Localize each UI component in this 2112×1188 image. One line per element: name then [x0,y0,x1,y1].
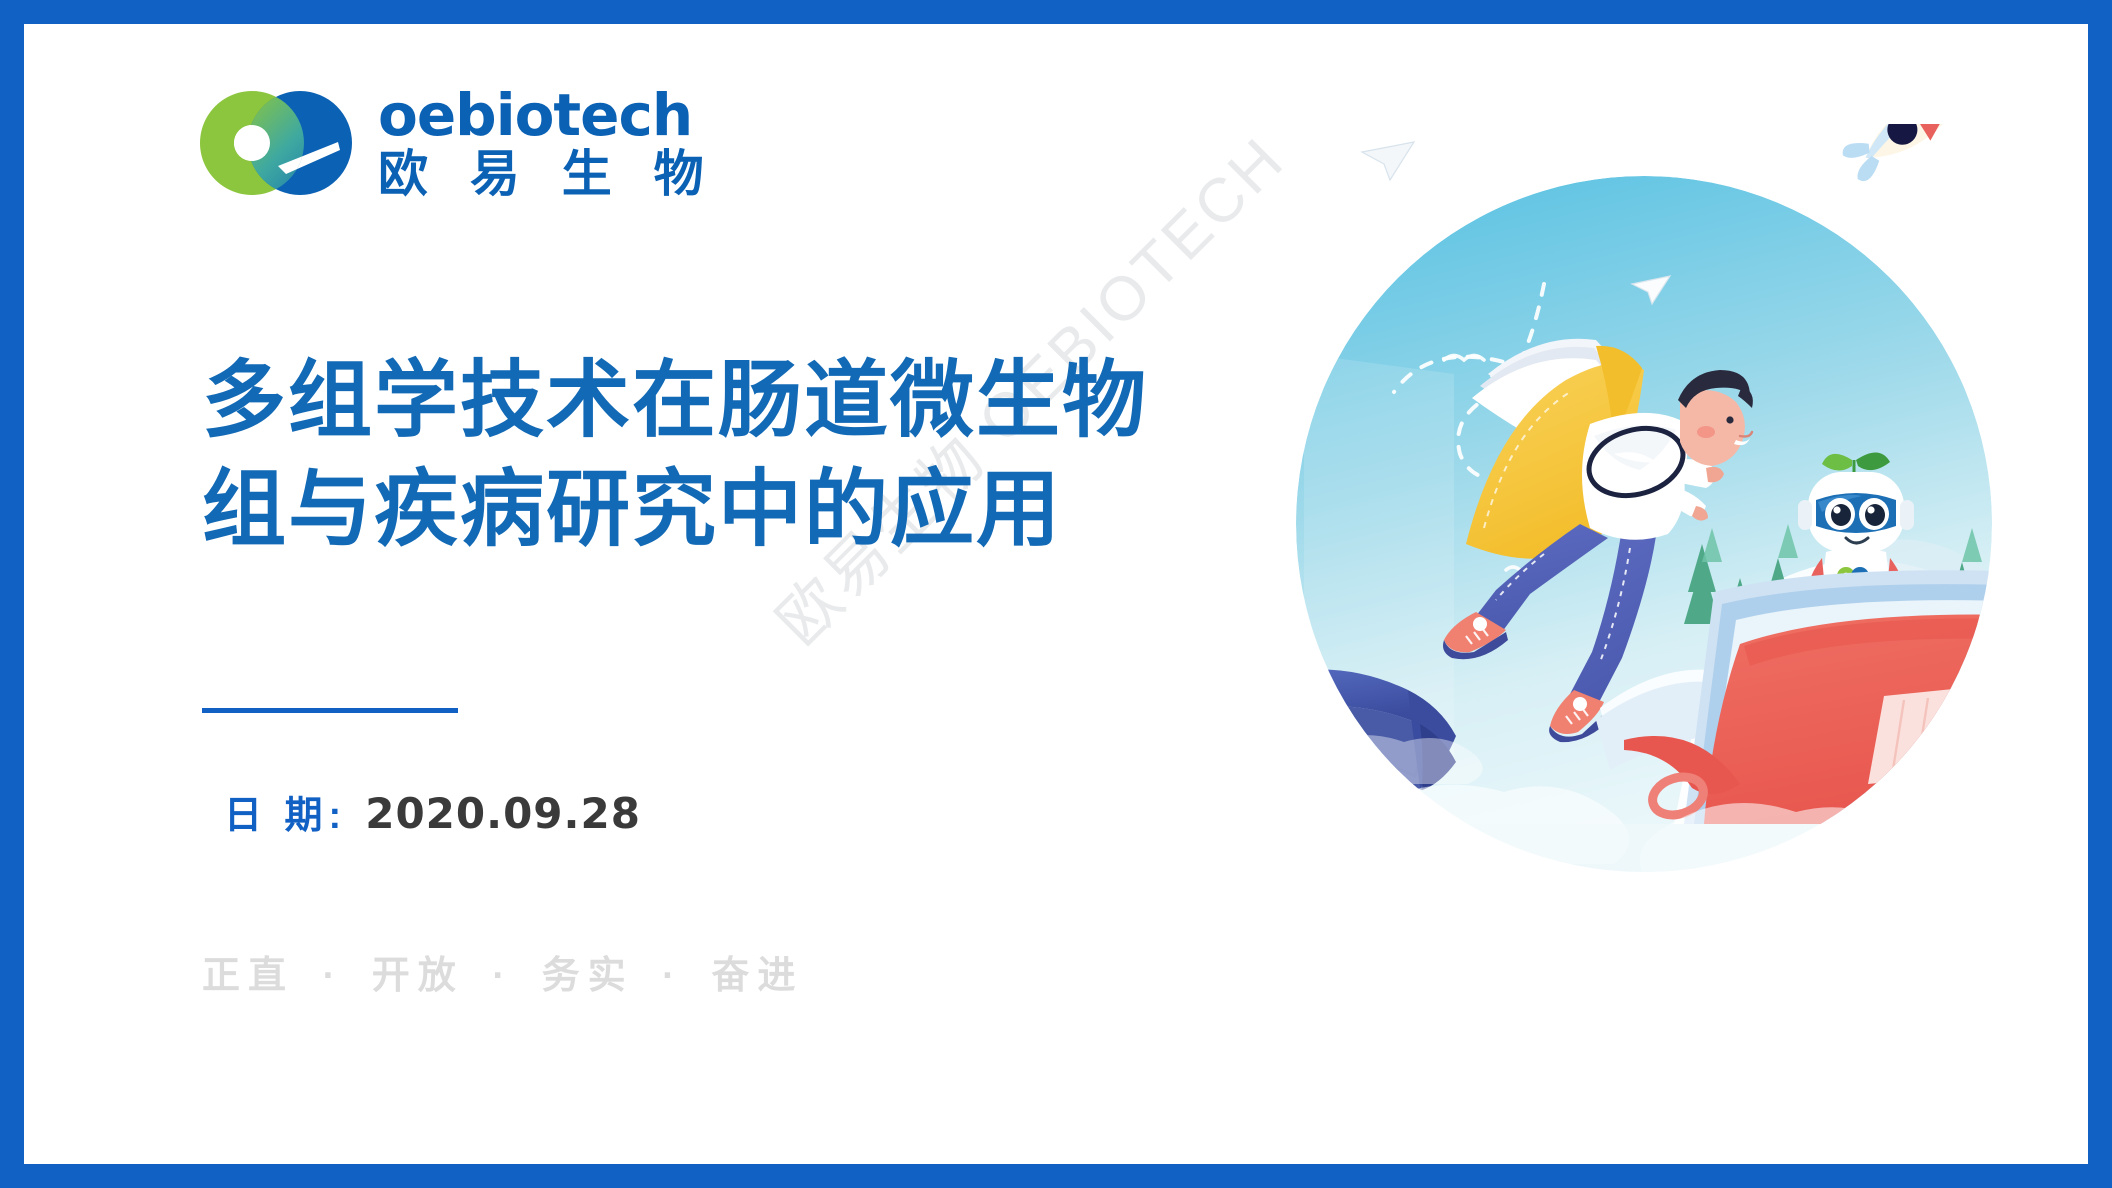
paper-plane-icon [1362,142,1414,180]
date-label: 日 期: [224,784,347,839]
date-row: 日 期: 2020.09.28 [224,784,641,839]
tagline-separator-1: · [313,955,354,997]
logo-wordmark: oebiotech 欧 易 生 物 [378,86,718,201]
slide-canvas: 欧易生物 OEBIOTECH [24,24,2088,1164]
page-title: 多组学技术在肠道微生物 组与疾病研究中的应用 [202,346,1202,564]
oe-circles-logo-icon [200,88,352,198]
logo-english-name: oebiotech [378,86,718,144]
hero-illustration [1244,124,2044,924]
tagline-item-4: 奋进 [711,955,803,997]
illustration-scene [1244,176,2044,924]
company-tagline: 正直 · 开放 · 务实 · 奋进 [202,944,803,999]
tagline-item-3: 务实 [542,955,634,997]
date-value: 2020.09.28 [365,789,641,838]
logo-chinese-name: 欧 易 生 物 [378,148,718,201]
tagline-item-2: 开放 [372,955,464,997]
title-line-2: 组与疾病研究中的应用 [202,455,1202,564]
presentation-slide: 欧易生物 OEBIOTECH [0,0,2112,1188]
tagline-item-1: 正直 [202,955,294,997]
title-divider [202,708,458,713]
tagline-separator-3: · [652,955,693,997]
title-line-1: 多组学技术在肠道微生物 [202,346,1202,455]
tagline-separator-2: · [482,955,523,997]
rocket-icon [1835,124,1967,184]
company-logo: oebiotech 欧 易 生 物 [200,86,718,201]
